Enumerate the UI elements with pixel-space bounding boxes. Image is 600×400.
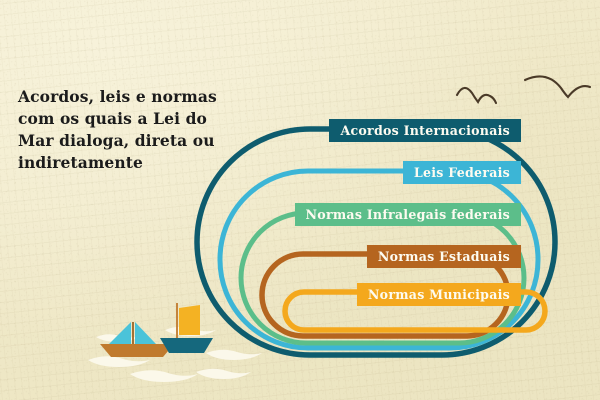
bird-icon-left xyxy=(457,88,496,103)
decorative-illustrations xyxy=(0,0,600,400)
bird-icon-right xyxy=(525,76,590,97)
infographic-canvas: Acordos Internacionais Leis Federais Nor… xyxy=(0,0,600,400)
sailboat-right xyxy=(160,303,213,353)
